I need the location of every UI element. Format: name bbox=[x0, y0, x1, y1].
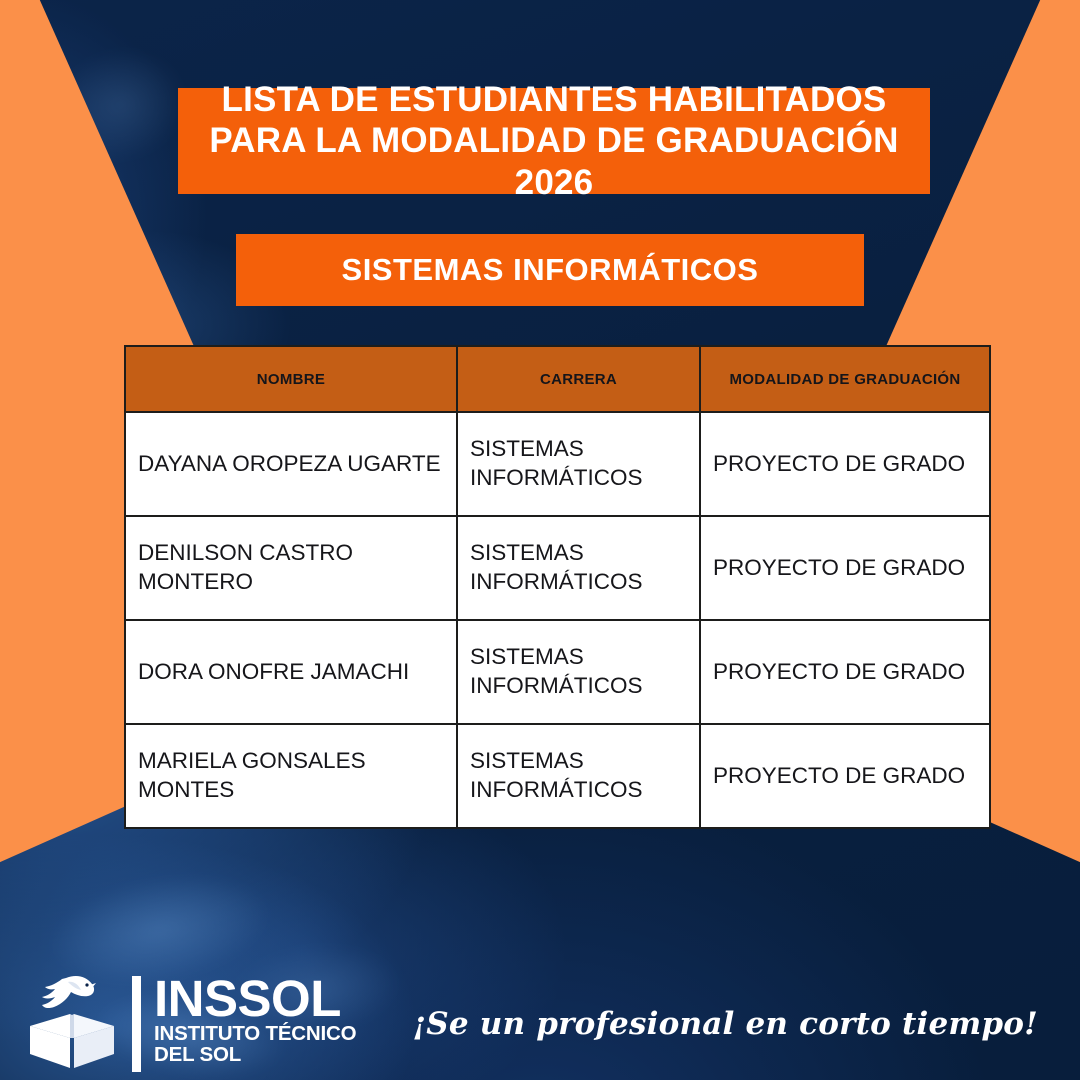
table-header-row: NOMBRE CARRERA MODALIDAD DE GRADUACIÓN bbox=[125, 346, 990, 412]
students-table: NOMBRE CARRERA MODALIDAD DE GRADUACIÓN D… bbox=[124, 345, 991, 829]
table-row: DORA ONOFRE JAMACHI SISTEMAS INFORMÁTICO… bbox=[125, 620, 990, 724]
cell-nombre: DENILSON CASTRO MONTERO bbox=[125, 516, 457, 620]
logo-name: INSSOL bbox=[154, 976, 356, 1023]
dove-over-open-book-icon bbox=[24, 968, 120, 1072]
page-title: LISTA DE ESTUDIANTES HABILITADOS PARA LA… bbox=[178, 88, 930, 194]
table-body: DAYANA OROPEZA UGARTE SISTEMAS INFORMÁTI… bbox=[125, 412, 990, 828]
logo-subtitle-1: INSTITUTO TÉCNICO bbox=[154, 1023, 356, 1045]
column-header-modalidad: MODALIDAD DE GRADUACIÓN bbox=[700, 346, 990, 412]
table-row: MARIELA GONSALES MONTES SISTEMAS INFORMÁ… bbox=[125, 724, 990, 828]
table-row: DAYANA OROPEZA UGARTE SISTEMAS INFORMÁTI… bbox=[125, 412, 990, 516]
table-header: NOMBRE CARRERA MODALIDAD DE GRADUACIÓN bbox=[125, 346, 990, 412]
cell-carrera: SISTEMAS INFORMÁTICOS bbox=[457, 516, 700, 620]
cell-carrera: SISTEMAS INFORMÁTICOS bbox=[457, 620, 700, 724]
column-header-nombre: NOMBRE bbox=[125, 346, 457, 412]
table-row: DENILSON CASTRO MONTERO SISTEMAS INFORMÁ… bbox=[125, 516, 990, 620]
column-header-carrera: CARRERA bbox=[457, 346, 700, 412]
cell-nombre: DAYANA OROPEZA UGARTE bbox=[125, 412, 457, 516]
cell-modalidad: PROYECTO DE GRADO bbox=[700, 724, 990, 828]
institution-logo: INSSOL INSTITUTO TÉCNICO DEL SOL bbox=[24, 968, 356, 1072]
program-subtitle: SISTEMAS INFORMÁTICOS bbox=[236, 234, 864, 306]
cell-modalidad: PROYECTO DE GRADO bbox=[700, 620, 990, 724]
logo-subtitle-2: DEL SOL bbox=[154, 1044, 356, 1066]
poster-canvas: LISTA DE ESTUDIANTES HABILITADOS PARA LA… bbox=[0, 0, 1080, 1080]
cell-modalidad: PROYECTO DE GRADO bbox=[700, 516, 990, 620]
tagline: ¡Se un profesional en corto tiempo! bbox=[412, 1006, 1038, 1042]
cell-nombre: DORA ONOFRE JAMACHI bbox=[125, 620, 457, 724]
cell-carrera: SISTEMAS INFORMÁTICOS bbox=[457, 412, 700, 516]
logo-wordmark: INSSOL INSTITUTO TÉCNICO DEL SOL bbox=[132, 976, 356, 1072]
cell-nombre: MARIELA GONSALES MONTES bbox=[125, 724, 457, 828]
cell-carrera: SISTEMAS INFORMÁTICOS bbox=[457, 724, 700, 828]
cell-modalidad: PROYECTO DE GRADO bbox=[700, 412, 990, 516]
